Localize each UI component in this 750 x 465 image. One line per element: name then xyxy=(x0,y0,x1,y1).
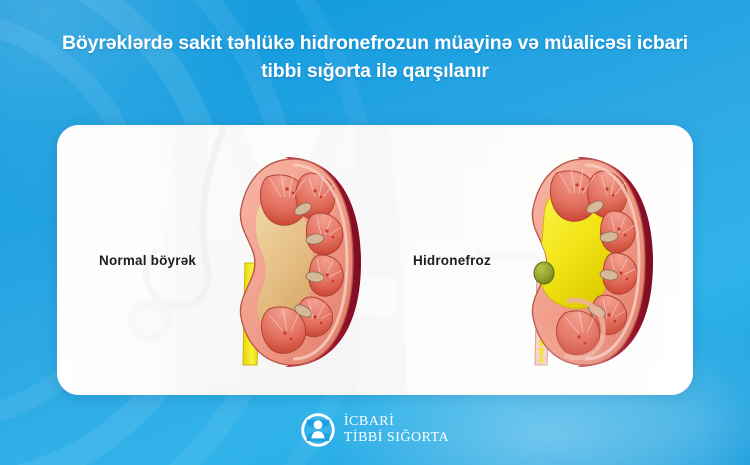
headline-text: Böyrəklərdə sakit təhlükə hidronefrozun … xyxy=(0,30,750,85)
poster-canvas: Böyrəklərdə sakit təhlükə hidronefrozun … xyxy=(0,0,750,465)
person-in-circle-icon xyxy=(301,413,335,447)
brand-logo-text: İCBARİ TİBBİ SIĞORTA xyxy=(344,414,449,445)
brand-logo-line2: TİBBİ SIĞORTA xyxy=(344,430,449,446)
normal-kidney-label: Normal böyrək xyxy=(99,253,196,268)
kidney-stone xyxy=(534,262,554,284)
hydronephrosis-kidney-label: Hidronefroz xyxy=(413,253,491,268)
brand-logo: İCBARİ TİBBİ SIĞORTA xyxy=(0,413,750,447)
brand-logo-line1: İCBARİ xyxy=(344,414,449,430)
normal-kidney-illustration xyxy=(215,151,365,373)
